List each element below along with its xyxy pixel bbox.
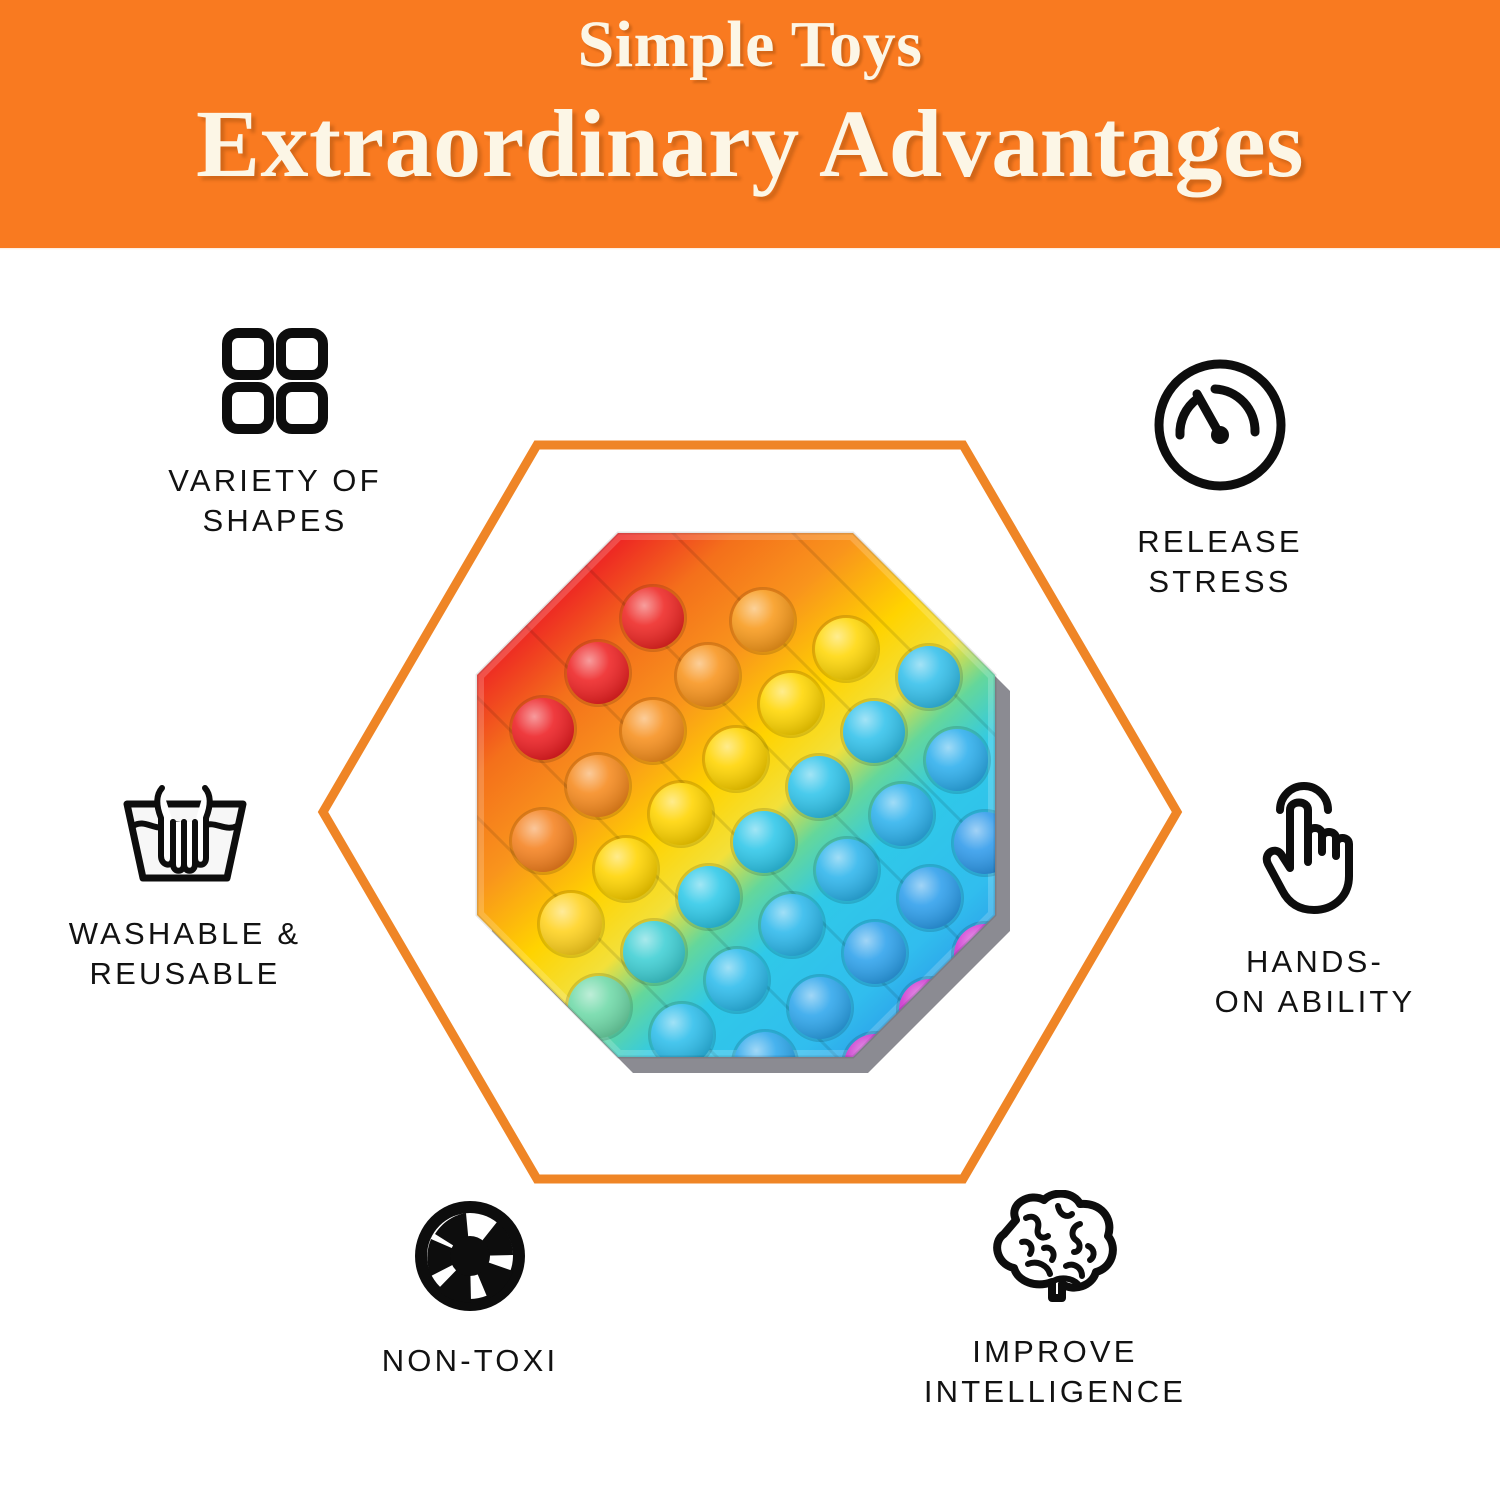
product-image-pop-it-toy	[455, 515, 1030, 1105]
header-title-line2: Extraordinary Advantages	[196, 94, 1304, 195]
hand-wash-tub-icon	[115, 778, 255, 890]
feature-non-toxic: NON-TOXI	[305, 1195, 635, 1381]
feature-variety-of-shapes: VARIETY OF SHAPES	[110, 325, 440, 542]
feature-label-non-toxic: NON-TOXI	[382, 1341, 559, 1381]
feature-improve-intelligence: IMPROVE INTELLIGENCE	[890, 1190, 1220, 1413]
feature-label-variety-of-shapes: VARIETY OF SHAPES	[168, 461, 381, 542]
header-title-line1: Simple Toys	[578, 12, 923, 78]
feature-hands-on-ability: HANDS- ON ABILITY	[1150, 778, 1480, 1023]
feature-washable-reusable: WASHABLE & REUSABLE	[20, 778, 350, 995]
four-squares-grid-icon	[219, 325, 331, 437]
feature-label-hands-on-ability: HANDS- ON ABILITY	[1215, 942, 1416, 1023]
aperture-shutter-icon	[409, 1195, 531, 1317]
feature-label-improve-intelligence: IMPROVE INTELLIGENCE	[924, 1332, 1186, 1413]
tapping-hand-icon	[1252, 778, 1378, 918]
feature-release-stress: RELEASE STRESS	[1055, 352, 1385, 603]
feature-label-washable-reusable: WASHABLE & REUSABLE	[69, 914, 301, 995]
brain-icon	[982, 1190, 1128, 1308]
feature-label-release-stress: RELEASE STRESS	[1137, 522, 1302, 603]
header-banner: Simple Toys Extraordinary Advantages	[0, 0, 1500, 248]
gauge-meter-icon	[1147, 352, 1293, 498]
